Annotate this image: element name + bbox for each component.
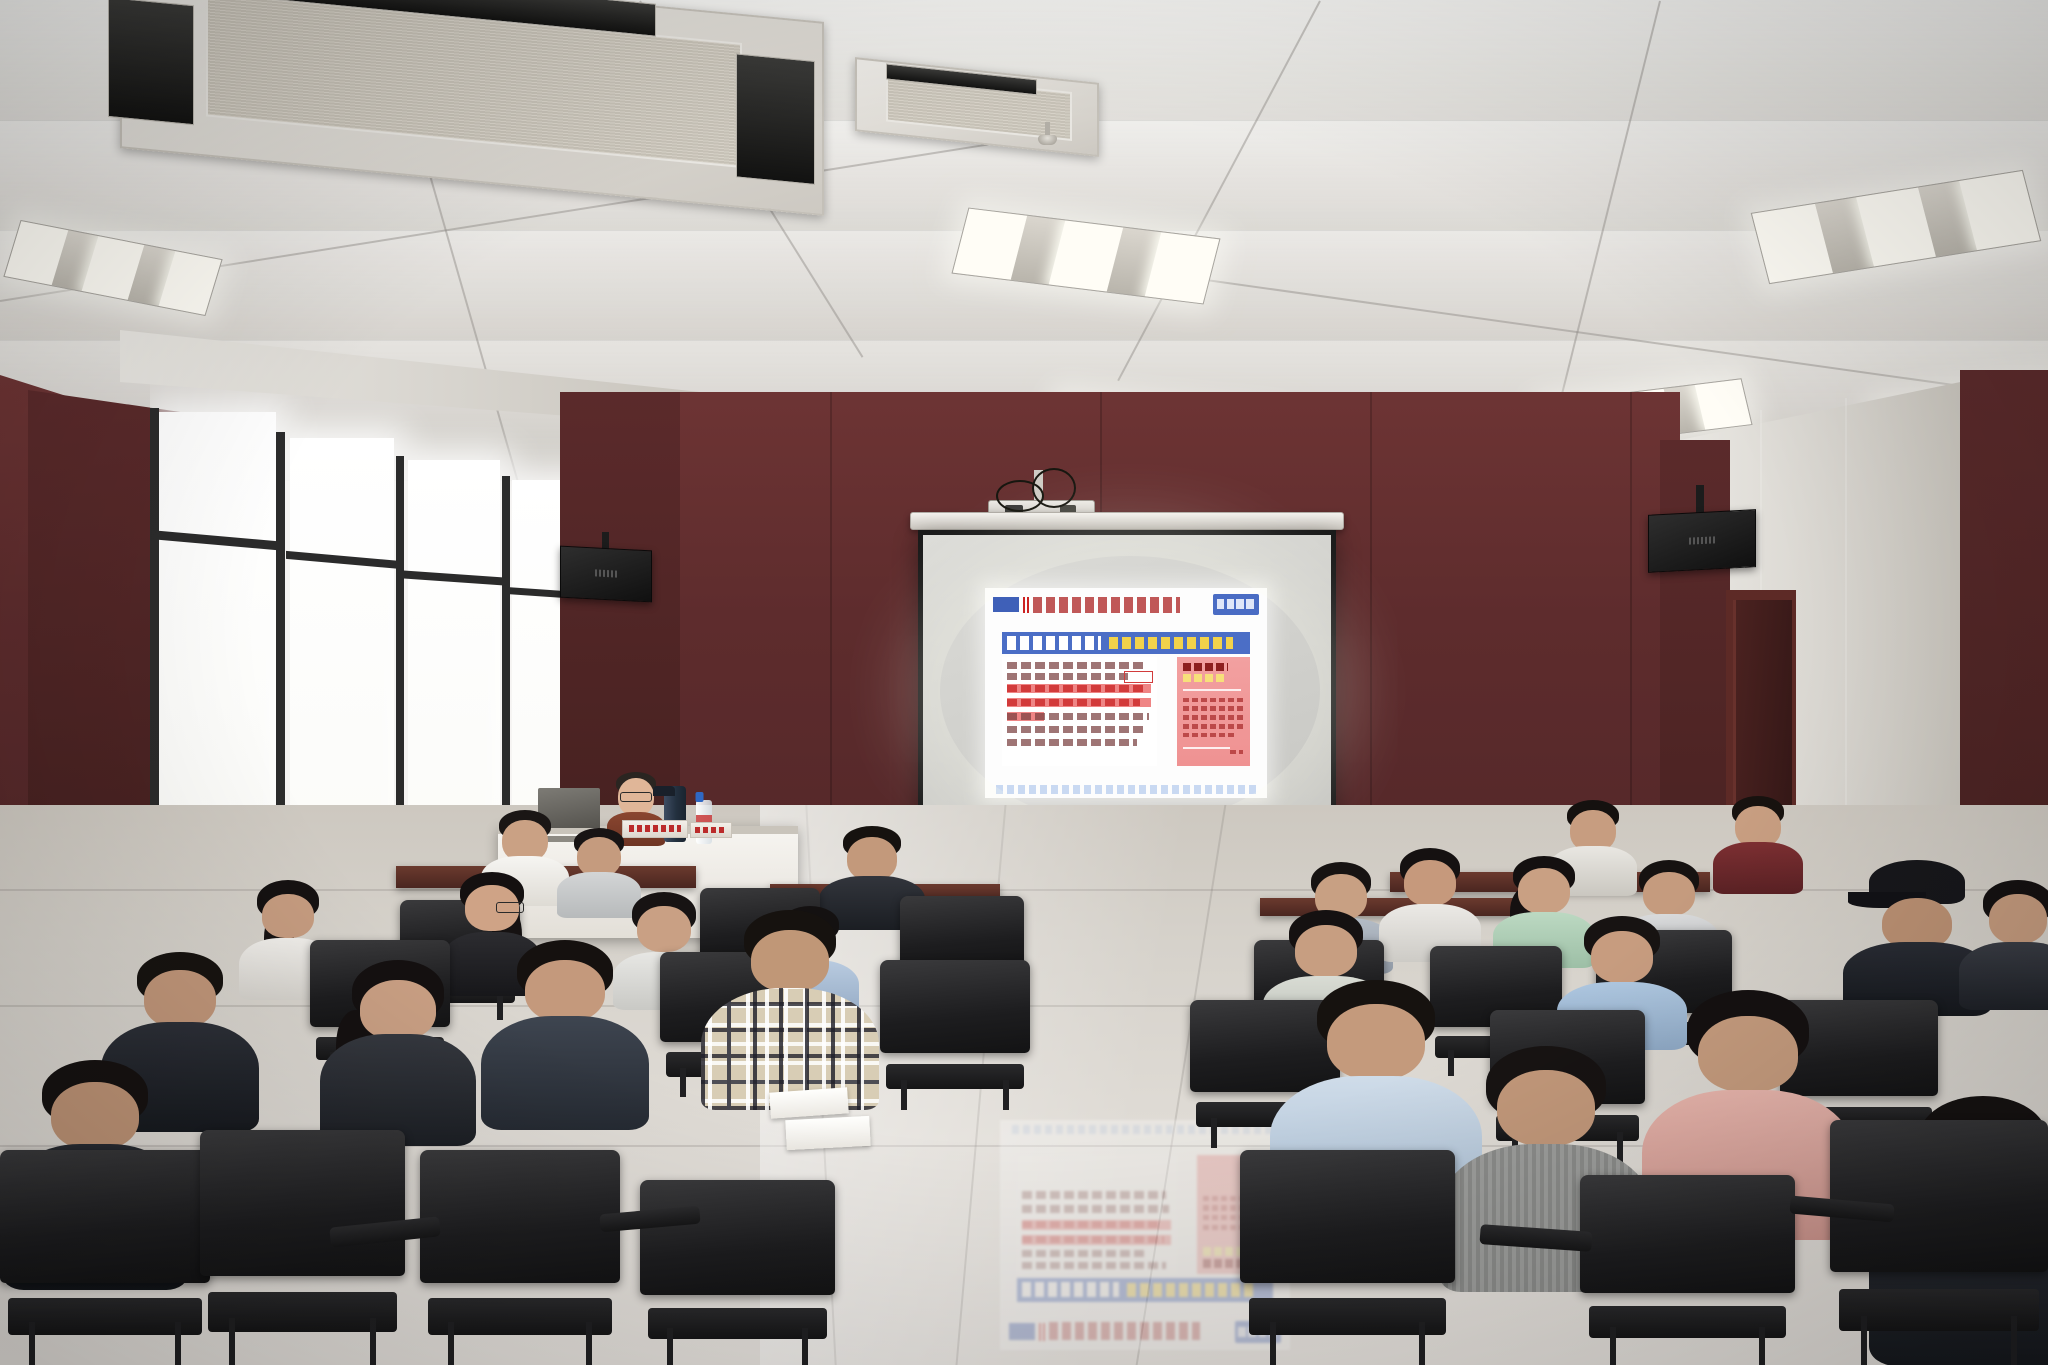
chair-right-near-3[interactable] xyxy=(1830,1120,2048,1365)
name-plate-2 xyxy=(690,822,732,838)
notebook xyxy=(785,1116,870,1150)
chair-left-mid-3[interactable] xyxy=(880,960,1030,1110)
projector-cable-2 xyxy=(1032,468,1076,508)
slide-header-text xyxy=(1033,597,1180,613)
chair-left-near-1[interactable] xyxy=(0,1150,210,1365)
slide-side-line-5 xyxy=(1183,733,1234,738)
attendee-long-hair-left xyxy=(318,960,478,1145)
chair-left-near-3[interactable] xyxy=(420,1150,620,1365)
slide-body-line-3 xyxy=(1007,685,1145,692)
slide-side-heading xyxy=(1183,663,1228,672)
screen-roller-case xyxy=(910,512,1344,530)
slide-side-line-1 xyxy=(1183,698,1243,703)
sprinkler-head-front xyxy=(1035,122,1059,150)
chair-right-near-2[interactable] xyxy=(1580,1175,1795,1365)
speaker-right-bracket xyxy=(1696,485,1704,513)
slide-body xyxy=(1002,657,1157,766)
attendee-maroon-top xyxy=(1712,796,1804,894)
attendee-white-shirt-right xyxy=(1378,848,1482,962)
slide-header-badge xyxy=(1213,594,1258,615)
slide-side-line-4 xyxy=(1183,724,1243,729)
lecture-hall-photo xyxy=(0,0,2048,1365)
slide-title-quoted xyxy=(1109,637,1233,650)
chair-left-near-2[interactable] xyxy=(200,1130,405,1365)
wall-speaker-right xyxy=(1648,509,1756,573)
slide-body-line-5 xyxy=(1007,713,1150,720)
slide-header-bars-icon xyxy=(1023,597,1030,613)
slide-side-subheading xyxy=(1183,674,1226,683)
presenter-glasses xyxy=(620,792,652,802)
slide-body-line-6 xyxy=(1007,726,1147,733)
slide-side-line-3 xyxy=(1183,715,1243,720)
slide-header xyxy=(985,588,1267,624)
slide-side-line-2 xyxy=(1183,706,1243,711)
slide-body-line-4 xyxy=(1007,699,1140,706)
slide-body-line-1 xyxy=(1007,662,1147,669)
attendee-blue-shirt-near xyxy=(480,940,650,1130)
slide-title-main xyxy=(1007,636,1101,650)
presentation-slide xyxy=(985,588,1267,798)
slide-side-attribution xyxy=(1230,750,1243,754)
slide-body-line-7 xyxy=(1007,739,1137,746)
chair-right-near-1[interactable] xyxy=(1240,1150,1455,1365)
handout-papers xyxy=(769,1087,849,1118)
slide-header-chip xyxy=(993,597,1018,612)
slide-body-line-2 xyxy=(1007,673,1128,680)
attendee-plaid-jacket xyxy=(700,910,880,1110)
attendee-rear-right-3 xyxy=(1958,880,2048,1010)
slide-body-highlight-box xyxy=(1124,671,1152,682)
wall-speaker-left xyxy=(560,546,652,603)
slide-footer xyxy=(996,785,1255,793)
slide-side-panel xyxy=(1177,657,1250,766)
slide-title-band xyxy=(1002,632,1250,654)
